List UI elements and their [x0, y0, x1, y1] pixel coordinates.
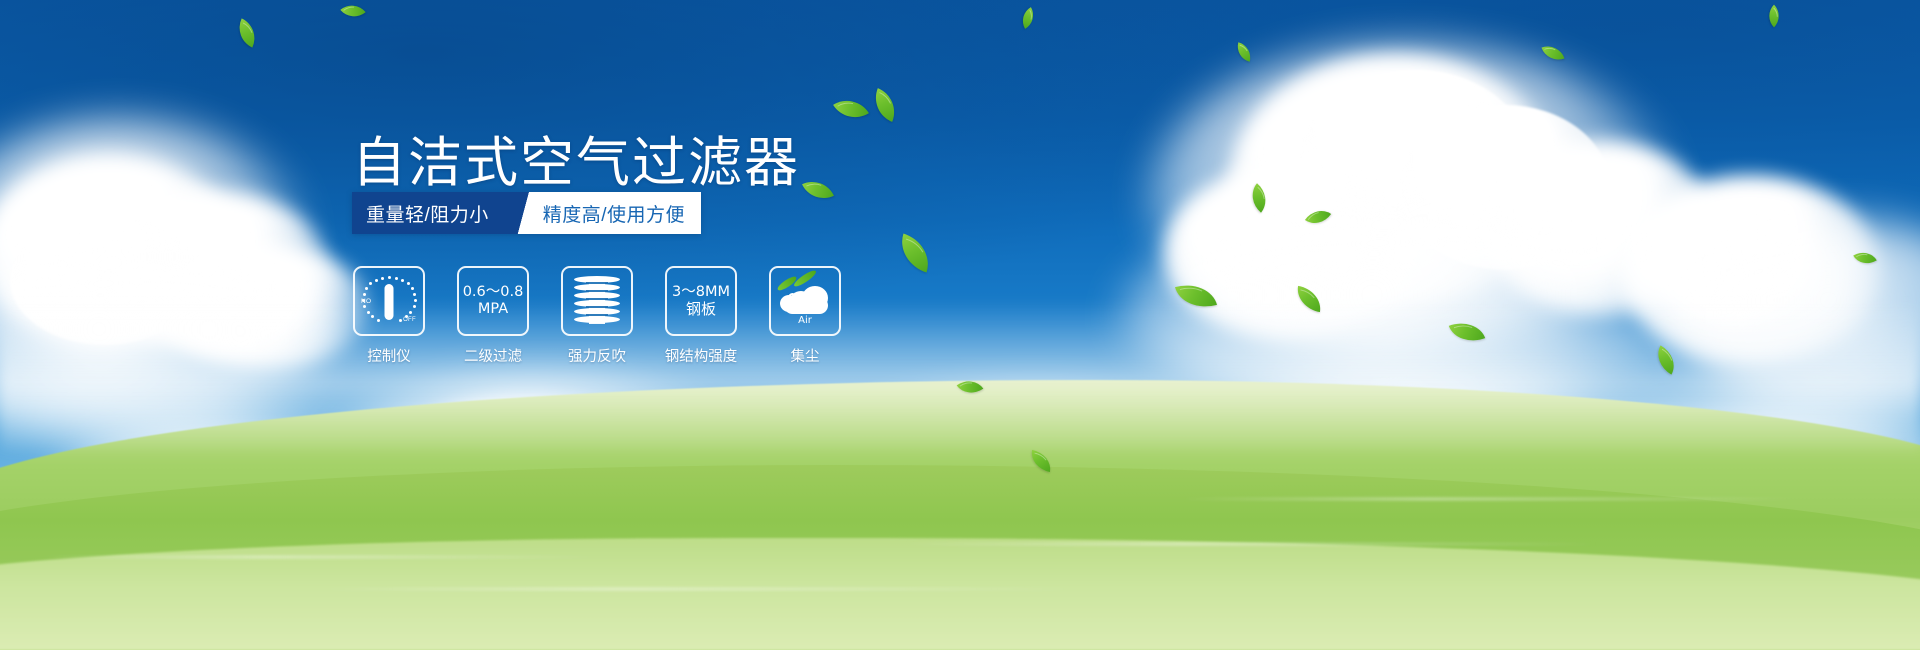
feature-label: 集尘 [791, 345, 820, 366]
tag-feature-2[interactable]: 精度高/使用方便 [537, 192, 701, 234]
tag-feature-1[interactable]: 重量轻/阻力小 [352, 192, 511, 234]
dial-gauge-icon: NO OFF [361, 275, 417, 327]
feature-label: 钢结构强度 [665, 345, 738, 366]
tag-separator [511, 192, 537, 234]
feature-icon-box: Air [769, 266, 841, 336]
feature-item-blowback[interactable]: 强力反吹 [560, 266, 634, 366]
feature-icon-box: 0.6～0.8 MPA [457, 266, 529, 336]
air-label-text: Air [778, 315, 832, 326]
tag-bar: 重量轻/阻力小 精度高/使用方便 [352, 192, 701, 234]
dial-label-no: NO [361, 298, 371, 305]
page-title: 自洁式空气过滤器 [352, 118, 800, 197]
feature-item-steel[interactable]: 3～8MM 钢板 钢结构强度 [664, 266, 738, 366]
feature-label: 二级过滤 [464, 345, 522, 366]
steel-plate-text-icon: 3～8MM [672, 284, 730, 301]
filter-cartridge-icon [574, 276, 620, 326]
pressure-unit-text: MPA [478, 301, 508, 318]
feature-item-dust[interactable]: Air 集尘 [768, 266, 842, 366]
dial-label-off: OFF [403, 317, 416, 323]
feature-icon-box: NO OFF [353, 266, 425, 336]
feature-label: 强力反吹 [568, 345, 626, 366]
pressure-text-icon: 0.6～0.8 [463, 284, 524, 301]
feature-item-filtration[interactable]: 0.6～0.8 MPA 二级过滤 [456, 266, 530, 366]
steel-plate-unit-text: 钢板 [686, 301, 716, 318]
hero-banner: 自洁式空气过滤器 重量轻/阻力小 精度高/使用方便 [0, 0, 1920, 650]
feature-icon-box: 3～8MM 钢板 [665, 266, 737, 336]
feature-item-control[interactable]: NO OFF 控制仪 [352, 266, 426, 366]
air-cloud-icon: Air [778, 279, 832, 323]
dial-needle-icon [385, 284, 394, 320]
feature-icon-box [561, 266, 633, 336]
feature-list: NO OFF 控制仪 0.6～0.8 MPA 二级过滤 [352, 266, 842, 366]
feature-label: 控制仪 [367, 345, 411, 366]
